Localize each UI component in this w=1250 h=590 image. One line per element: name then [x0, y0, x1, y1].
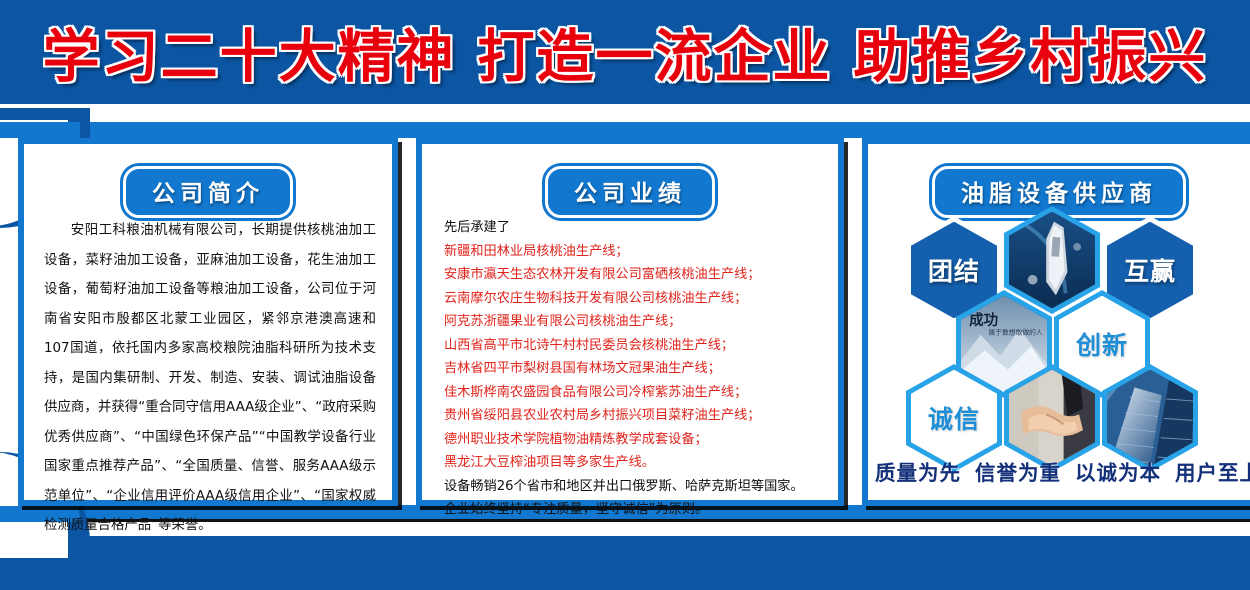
panel-performance-body: 先后承建了 新疆和田林业局核桃油生产线；安康市瀛天生态农林开发有限公司富硒核桃油…	[444, 216, 824, 522]
performance-footer-line: 设备畅销26个省市和地区并出口俄罗斯、哈萨克斯坦等国家。	[444, 475, 824, 499]
performance-project-item: 山西省高平市北诗午村村民委员会核桃油生产线；	[444, 334, 824, 358]
hexagon-label: 诚信	[928, 400, 980, 436]
performance-project-item: 新疆和田林业局核桃油生产线；	[444, 240, 824, 264]
performance-project-item: 德州职业技术学院植物油精炼教学成套设备；	[444, 428, 824, 452]
poster-title: 学习二十大精神 打造一流企业 助推乡村振兴	[0, 0, 1250, 104]
header-band: 学习二十大精神 打造一流企业 助推乡村振兴	[0, 0, 1250, 104]
svg-text:属于敢想敢做的人: 属于敢想敢做的人	[989, 327, 1043, 336]
skyscraper-photo-icon	[1107, 370, 1193, 467]
performance-project-item: 贵州省绥阳县农业农村局乡村振兴项目菜籽油生产线；	[444, 404, 824, 428]
accent-bar-top	[0, 122, 1250, 138]
panel-performance-heading: 公司业绩	[545, 166, 715, 218]
performance-project-list: 新疆和田林业局核桃油生产线；安康市瀛天生态农林开发有限公司富硒核桃油生产线；云南…	[444, 240, 824, 475]
handshake-photo-icon	[1009, 370, 1095, 467]
slogan-phrase: 信誉为重	[975, 461, 1061, 485]
performance-footer-lines: 设备畅销26个省市和地区并出口俄罗斯、哈萨克斯坦等国家。企业始终坚持“专注质量，…	[444, 475, 824, 522]
performance-project-item: 安康市瀛天生态农林开发有限公司富硒核桃油生产线；	[444, 263, 824, 287]
panel-intro-heading: 公司简介	[123, 166, 293, 218]
performance-intro-line: 先后承建了	[444, 216, 824, 240]
performance-project-item: 佳木斯桦南农盛园食品有限公司冷榨紫苏油生产线；	[444, 381, 824, 405]
performance-project-item: 黑龙江大豆榨油项目等多家生产线。	[444, 451, 824, 475]
panel-company-performance: 公司业绩 先后承建了 新疆和田林业局核桃油生产线；安康市瀛天生态农林开发有限公司…	[416, 138, 844, 506]
bottom-blue-band	[0, 536, 1250, 590]
slogan-phrase: 以诚为本	[1075, 461, 1161, 485]
hexagon-inner	[1009, 212, 1095, 309]
panel-intro-body: 安阳工科粮油机械有限公司，长期提供核桃油加工设备，菜籽油加工设备，亚麻油加工设备…	[44, 216, 376, 541]
hexagon-aircraft-carrier-photo	[1004, 206, 1100, 314]
poster-root: 学习二十大精神 打造一流企业 助推乡村振兴 公司简介 安阳工科粮油机械有限公司，…	[0, 0, 1250, 590]
hexagon-label: 创新	[1076, 326, 1128, 362]
performance-project-item: 云南摩尔农庄生物科技开发有限公司核桃油生产线；	[444, 287, 824, 311]
hexagon-label: 团结	[928, 252, 980, 288]
aircraft-carrier-photo-icon	[1009, 212, 1095, 309]
panel-supplier: 油脂设备供应商 团结 互赢 成功 属于敢想敢做的人 创新诚信	[862, 138, 1250, 506]
panel-company-intro: 公司简介 安阳工科粮油机械有限公司，长期提供核桃油加工设备，菜籽油加工设备，亚麻…	[18, 138, 398, 506]
slogan-phrase: 质量为先	[875, 461, 961, 485]
hexagon-label: 互赢	[1124, 252, 1176, 288]
svg-text:成功: 成功	[969, 311, 998, 329]
hexagon-inner	[1009, 370, 1095, 467]
performance-project-item: 阿克苏浙疆果业有限公司核桃油生产线；	[444, 310, 824, 334]
performance-footer-line: 企业始终坚持“专注质量，坚守诚信”为原则。	[444, 498, 824, 522]
performance-project-item: 吉林省四平市梨树县国有林场文冠果油生产线；	[444, 357, 824, 381]
hexagon-inner: 诚信	[911, 370, 997, 467]
hexagon-cluster: 团结 互赢 成功 属于敢想敢做的人 创新诚信	[868, 206, 1250, 446]
supplier-slogan: 质量为先信誉为重以诚为本用户至上	[868, 456, 1250, 486]
slogan-phrase: 用户至上	[1175, 461, 1250, 485]
hexagon-inner	[1107, 370, 1193, 467]
